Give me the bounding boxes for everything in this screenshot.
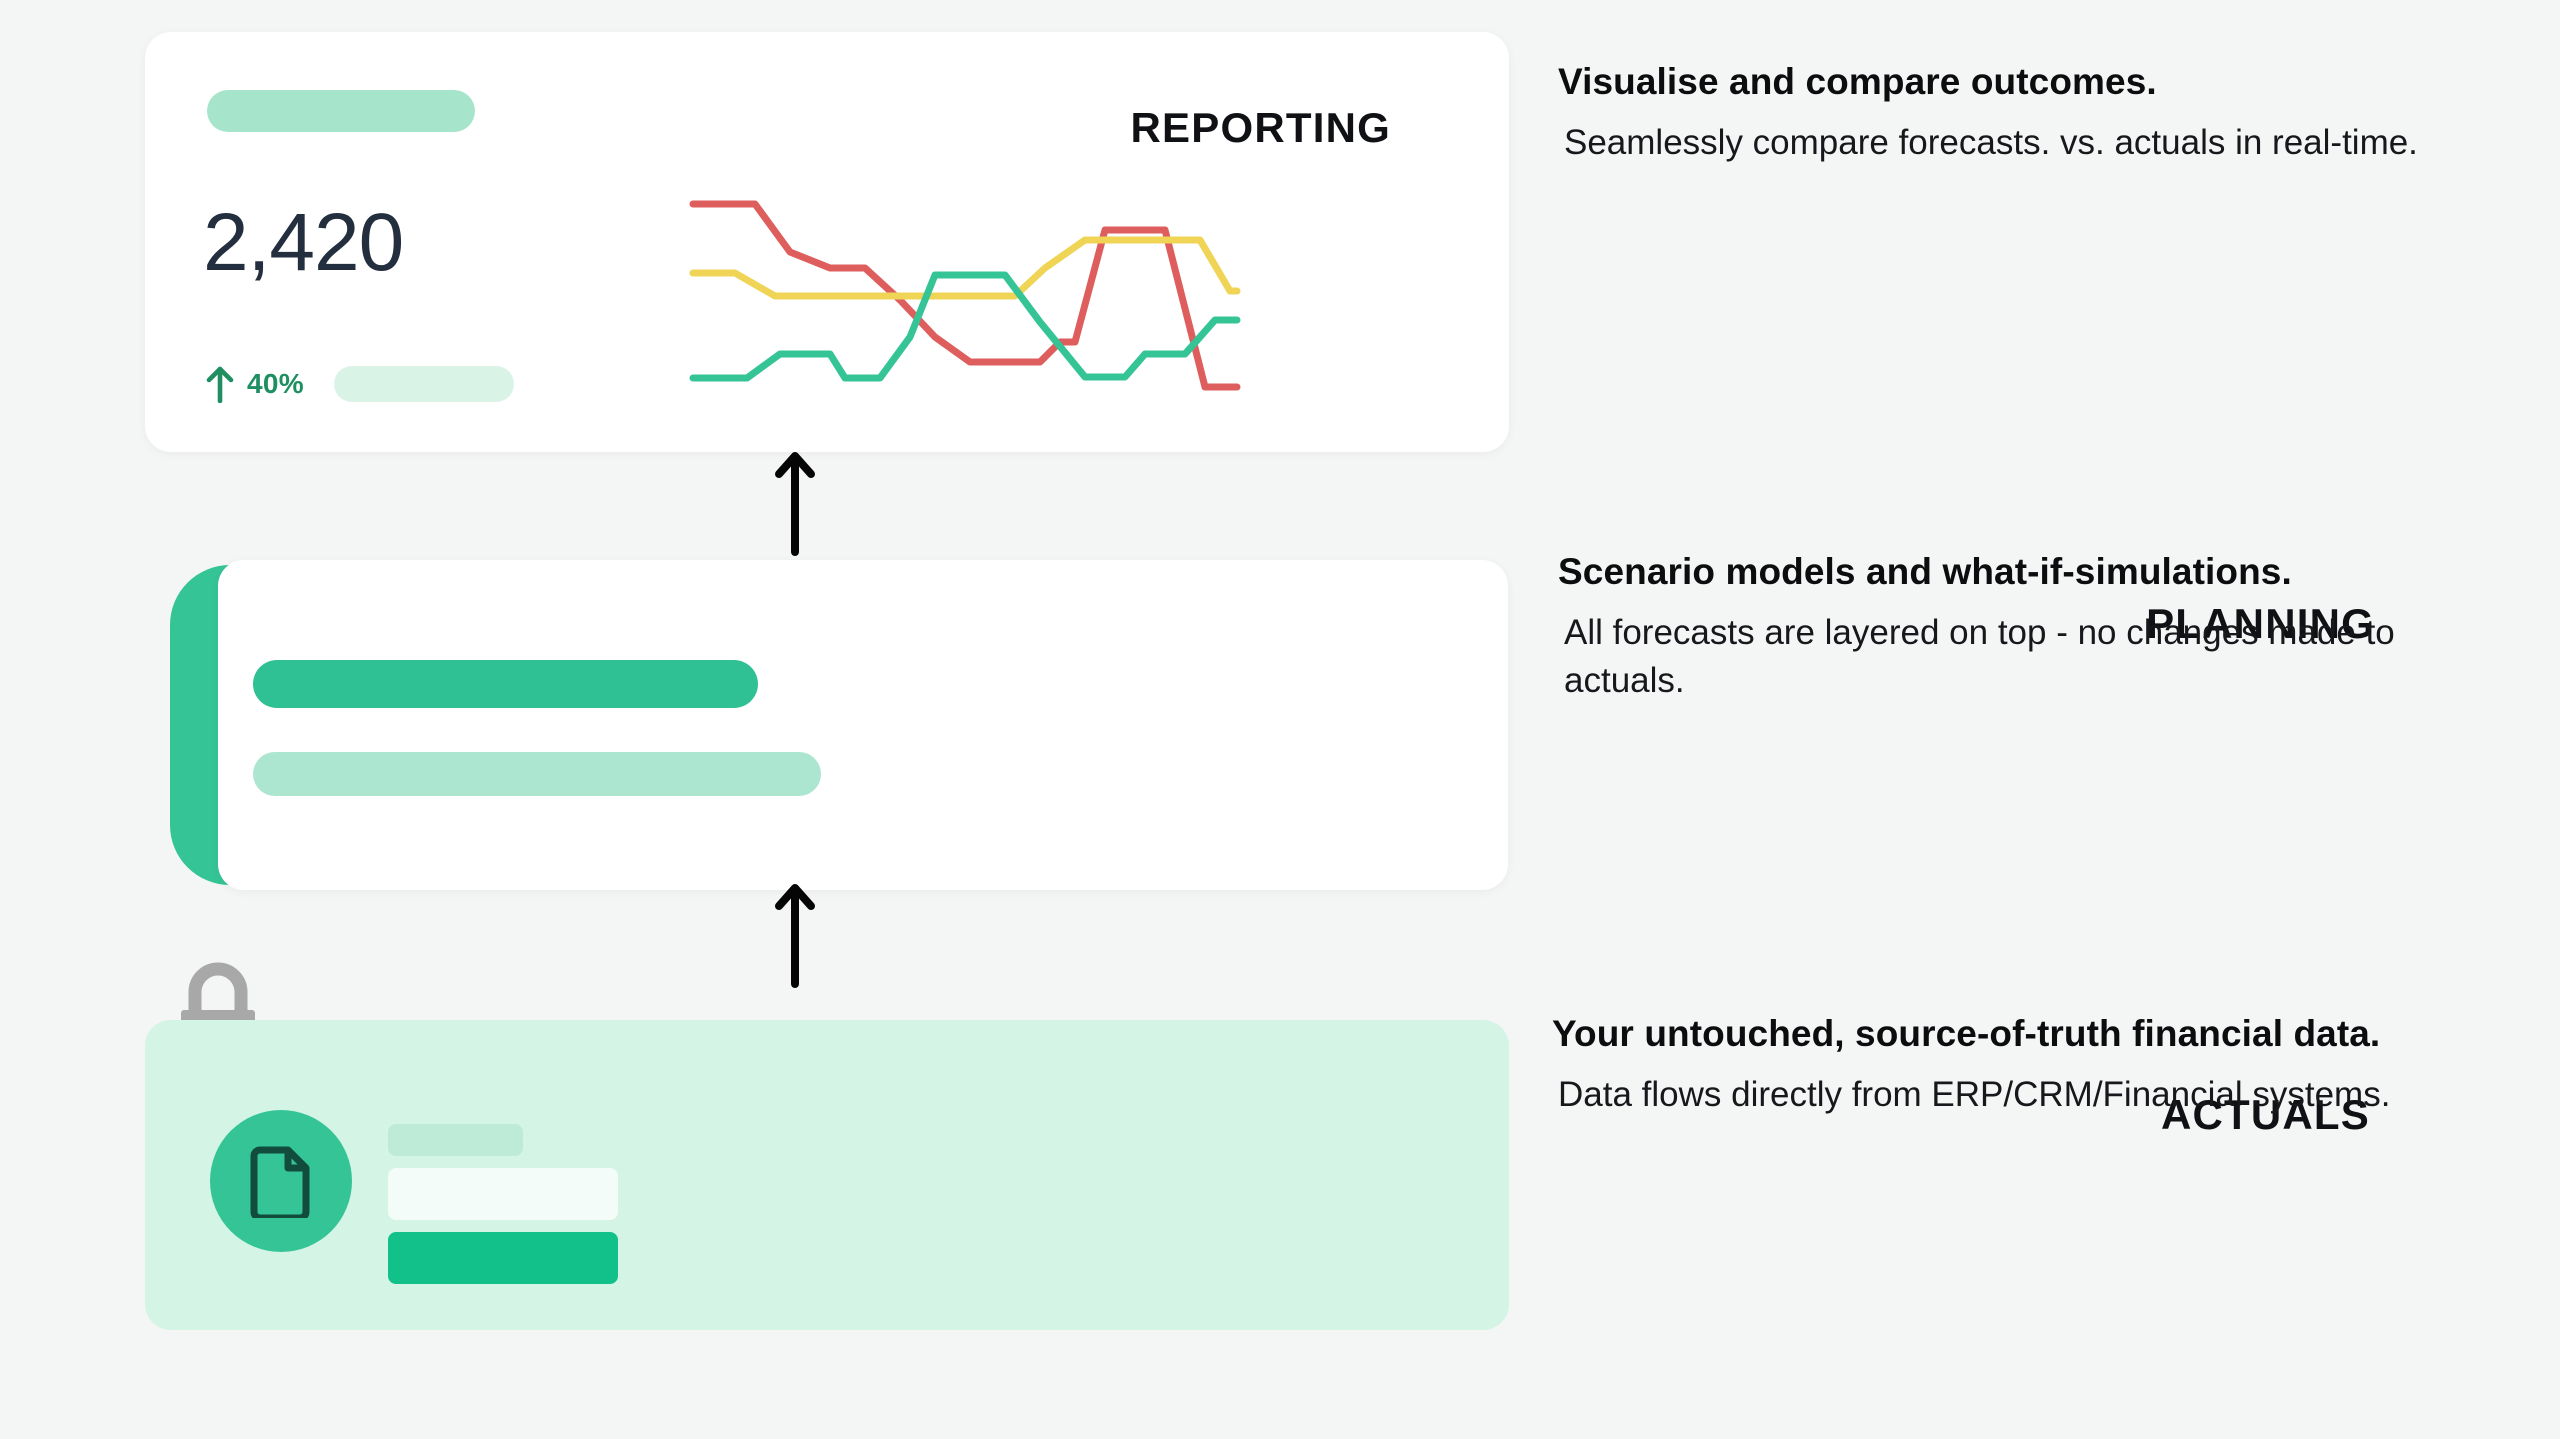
actuals-placeholder-bar-mid bbox=[388, 1168, 618, 1220]
reporting-delta-label: 40% bbox=[247, 368, 304, 400]
actuals-placeholder-bar-top bbox=[388, 1124, 523, 1156]
arrow-up-icon-planning-to-reporting bbox=[765, 446, 825, 556]
planning-placeholder-bar-secondary bbox=[253, 752, 821, 796]
document-icon bbox=[250, 1144, 312, 1218]
reporting-placeholder-pill bbox=[207, 90, 475, 132]
planning-description-block: Scenario models and what-if-simulations.… bbox=[1558, 548, 2518, 705]
planning-description-heading: Scenario models and what-if-simulations. bbox=[1558, 548, 2518, 595]
reporting-description-body: Seamlessly compare forecasts. vs. actual… bbox=[1558, 119, 2518, 167]
actuals-description-block: Your untouched, source-of-truth financia… bbox=[1552, 1010, 2512, 1119]
planning-placeholder-bar-primary bbox=[253, 660, 758, 708]
actuals-placeholder-bar-bottom bbox=[388, 1232, 618, 1284]
reporting-line-chart bbox=[685, 172, 1245, 402]
actuals-description-body: Data flows directly from ERP/CRM/Financi… bbox=[1552, 1071, 2512, 1119]
reporting-description-heading: Visualise and compare outcomes. bbox=[1558, 58, 2518, 105]
planning-description-body: All forecasts are layered on top - no ch… bbox=[1558, 609, 2518, 704]
actuals-description-heading: Your untouched, source-of-truth financia… bbox=[1552, 1010, 2512, 1057]
reporting-metric-value: 2,420 bbox=[203, 202, 403, 284]
reporting-delta-placeholder-pill bbox=[334, 366, 514, 402]
actuals-document-badge bbox=[210, 1110, 352, 1252]
chart-series-yellow bbox=[693, 240, 1237, 296]
reporting-delta-row: 40% bbox=[205, 365, 514, 403]
arrow-up-icon-actuals-to-planning bbox=[765, 878, 825, 988]
reporting-card[interactable]: 2,420 40% REPORTING bbox=[145, 32, 1509, 452]
arrow-up-icon bbox=[205, 365, 235, 403]
actuals-card[interactable] bbox=[145, 1020, 1509, 1330]
reporting-description-block: Visualise and compare outcomes. Seamless… bbox=[1558, 58, 2518, 167]
planning-card[interactable] bbox=[218, 560, 1508, 890]
reporting-layer-label: REPORTING bbox=[1131, 104, 1391, 152]
diagram-canvas: 2,420 40% REPORTING PLANNING bbox=[0, 0, 2560, 1439]
